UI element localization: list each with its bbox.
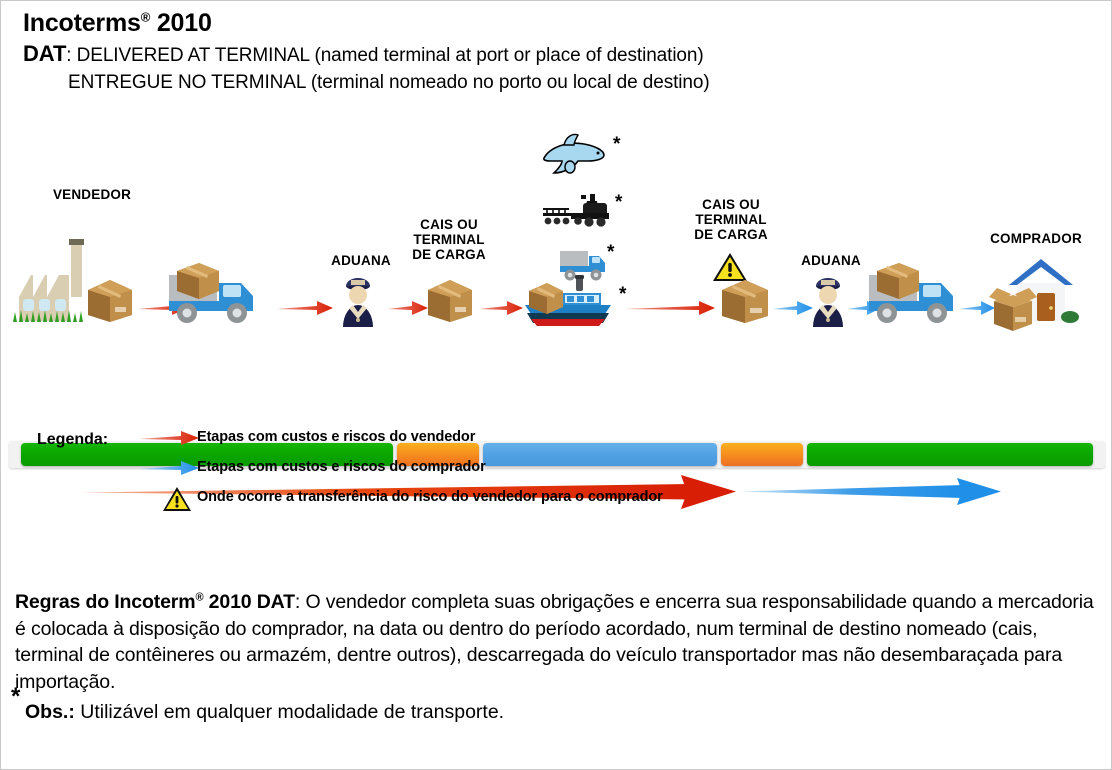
rules-label: Regras do Incoterm xyxy=(15,591,195,613)
observation-asterisk: * xyxy=(11,685,20,709)
terminal-package-icon-destination xyxy=(719,276,771,329)
terminal-package-icon-origin xyxy=(425,276,475,328)
truck-icon-outbound xyxy=(163,257,271,334)
legend-item-buyer: Etapas com custos e riscos do comprador xyxy=(37,456,937,486)
legend: Legenda: Etapas com custos e riscos do v… xyxy=(37,426,937,516)
observation-note: * Obs.: Utilizável em qualquer modalidad… xyxy=(11,701,1091,723)
label-terminal-destination: CAIS OU TERMINAL DE CARGA xyxy=(681,197,781,242)
incoterm-line-en-text: : DELIVERED AT TERMINAL (named terminal … xyxy=(66,45,703,66)
label-terminal-origin: CAIS OU TERMINAL DE CARGA xyxy=(399,217,499,262)
incoterm-rules-paragraph: Regras do Incoterm® 2010 DAT: O vendedor… xyxy=(15,589,1095,696)
cargo-ship-icon xyxy=(519,271,617,334)
train-icon xyxy=(541,191,611,234)
legend-item-risk-transfer-label: Onde ocorre a transferência do risco do … xyxy=(197,489,663,505)
label-seller: VENDEDOR xyxy=(27,187,157,202)
warning-triangle-icon xyxy=(162,486,192,518)
truck-icon-inbound xyxy=(863,257,971,334)
incoterm-code: DAT xyxy=(23,41,66,66)
observation-text: Utilizável em qualquer modalidade de tra… xyxy=(75,701,504,723)
header: Incoterms® 2010 DAT: DELIVERED AT TERMIN… xyxy=(23,9,1083,94)
airplane-icon xyxy=(538,131,610,184)
open-package-icon xyxy=(985,285,1041,338)
supply-chain-diagram: VENDEDOR ADUANA CAIS OU TERMINAL DE CARG… xyxy=(1,119,1112,409)
legend-item-risk-transfer: Onde ocorre a transferência do risco do … xyxy=(37,486,937,516)
observation-label: Obs.: xyxy=(25,701,75,723)
incoterm-line-pt: ENTREGUE NO TERMINAL (terminal nomeado n… xyxy=(68,72,1083,95)
legend-item-buyer-label: Etapas com custos e riscos do comprador xyxy=(197,459,486,475)
red-arrow-icon xyxy=(139,430,201,451)
legend-item-seller: Etapas com custos e riscos do vendedor xyxy=(37,426,937,456)
package-box-icon xyxy=(85,277,135,328)
registered-mark: ® xyxy=(141,10,150,25)
label-customs-export: ADUANA xyxy=(311,253,411,268)
page-title-text: Incoterms xyxy=(23,9,141,37)
blue-arrow-icon xyxy=(139,460,201,481)
train-star: * xyxy=(615,193,622,212)
customs-officer-icon-import xyxy=(805,275,851,334)
legend-item-seller-label: Etapas com custos e riscos do vendedor xyxy=(197,429,475,445)
page-title: Incoterms® 2010 xyxy=(23,9,1083,38)
page-title-year: 2010 xyxy=(157,9,212,37)
incoterms-dat-infographic: Incoterms® 2010 DAT: DELIVERED AT TERMIN… xyxy=(0,0,1112,770)
label-buyer: COMPRADOR xyxy=(971,231,1101,246)
customs-officer-icon-export xyxy=(335,275,381,334)
flow-arrow-red-2 xyxy=(277,299,335,322)
airplane-star: * xyxy=(613,135,620,154)
flow-arrow-red-5 xyxy=(625,299,717,322)
rules-label2: 2010 DAT xyxy=(203,591,295,613)
incoterm-line-en: DAT: DELIVERED AT TERMINAL (named termin… xyxy=(23,41,1083,68)
truck-mode-star: * xyxy=(607,243,614,262)
flow-arrow-red-3 xyxy=(388,299,430,322)
